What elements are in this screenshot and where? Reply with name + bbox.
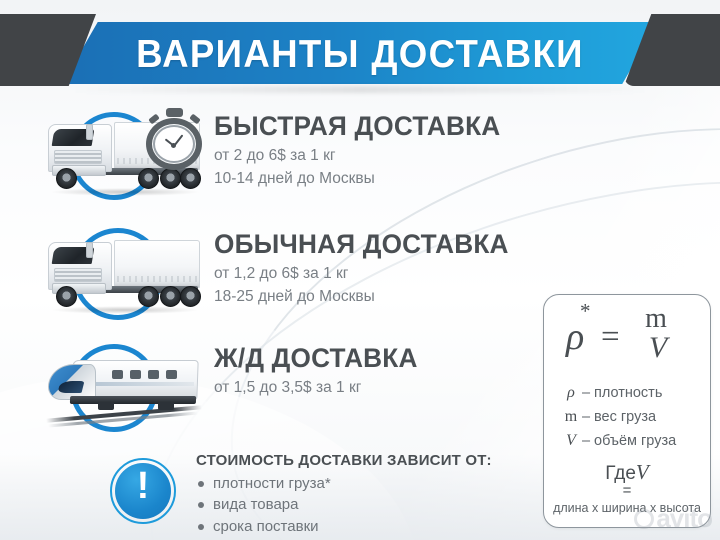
truck-wheel (180, 168, 201, 189)
truck-wheel (56, 168, 77, 189)
where-symbol: V (636, 460, 649, 484)
legend-row: m – вес груза (560, 405, 710, 429)
ground-shadow (50, 188, 200, 196)
option-title: Ж/Д ДОСТАВКА (214, 344, 550, 372)
truck-grille (54, 268, 102, 282)
option-title: ОБЫЧНАЯ ДОСТАВКА (214, 230, 550, 258)
stopwatch-crown (166, 108, 183, 117)
avito-watermark: avito (634, 503, 712, 534)
train-bogie (98, 402, 114, 410)
density-formula-card: * ρ = m V ρ – плотность m – вес груза V (543, 294, 711, 528)
delivery-option-text: ОБЫЧНАЯ ДОСТАВКА от 1,2 до 6$ за 1 кг 18… (214, 230, 560, 308)
truck-grille (54, 150, 102, 164)
train-window (130, 370, 141, 379)
delivery-option-rail: Ж/Д ДОСТАВКА от 1,5 до 3,5$ за 1 кг (0, 336, 560, 440)
option-price: от 1,2 до 6$ за 1 кг (214, 263, 560, 285)
list-item: срока поставки (196, 516, 556, 537)
truck-wheel (180, 286, 201, 307)
option-title: БЫСТРАЯ ДОСТАВКА (214, 112, 550, 140)
train-nose (48, 364, 96, 400)
truck-illustration (42, 236, 202, 310)
stopwatch-pin (171, 143, 176, 148)
legend-row: ρ – плотность (560, 381, 710, 405)
ground-shadow (50, 306, 200, 314)
option-term: 10-14 дней до Москвы (214, 168, 560, 190)
truck-mirror (86, 124, 93, 140)
legend-dash: – (582, 407, 594, 429)
truck-wheel (56, 286, 77, 307)
truck-wheel (138, 286, 159, 307)
watermark-text: avito (656, 503, 712, 534)
delivery-option-text: Ж/Д ДОСТАВКА от 1,5 до 3,5$ за 1 кг (214, 344, 560, 400)
delivery-option-text: БЫСТРАЯ ДОСТАВКА от 2 до 6$ за 1 кг 10-1… (214, 112, 560, 190)
cost-factor-list: плотности груза* вида товара срока поста… (196, 473, 556, 537)
list-item: плотности груза* (196, 473, 556, 494)
where-label: Где (605, 463, 636, 484)
legend-text: вес груза (594, 407, 656, 429)
legend-symbol: V (560, 429, 582, 453)
delivery-options-poster: ВАРИАНТЫ ДОСТАВКИ (0, 0, 720, 540)
train-windshield (58, 381, 85, 393)
legend-dash: – (582, 431, 594, 453)
truck-cab (48, 124, 112, 172)
legend-symbol: ρ (560, 381, 582, 405)
truck-wheel (138, 168, 159, 189)
truck-mirror (86, 242, 93, 258)
train-window (148, 370, 159, 379)
badge-exclamation-mark: ! (110, 467, 176, 505)
formula-denominator: V (649, 331, 667, 364)
formula-legend: ρ – плотность m – вес груза V – объём гр… (544, 381, 710, 453)
legend-row: V – объём груза (560, 429, 710, 453)
formula-numerator: m (645, 303, 667, 334)
train-illustration (46, 352, 202, 424)
list-item: вида товара (196, 494, 556, 515)
delivery-option-regular: ОБЫЧНАЯ ДОСТАВКА от 1,2 до 6$ за 1 кг 18… (0, 222, 560, 326)
cost-note-text: СТОИМОСТЬ ДОСТАВКИ ЗАВИСИТ ОТ: плотности… (196, 452, 556, 537)
stopwatch-icon (144, 108, 206, 170)
option-term: 18-25 дней до Москвы (214, 286, 560, 308)
density-formula: * ρ = m V (544, 295, 710, 379)
page-title: ВАРИАНТЫ ДОСТАВКИ (22, 33, 699, 77)
train-window (112, 370, 123, 379)
truck-wheel (160, 286, 181, 307)
truck-icon (36, 222, 208, 326)
where-equals: = (544, 486, 710, 497)
train-icon (36, 336, 208, 440)
legend-text: плотность (594, 383, 662, 405)
truck-trailer (114, 240, 200, 288)
truck-wheel (160, 168, 181, 189)
train-skirt (70, 396, 196, 404)
option-price: от 1,5 до 3,5$ за 1 кг (214, 377, 560, 399)
formula-equals: = (601, 319, 620, 356)
option-price: от 2 до 6$ за 1 кг (214, 145, 560, 167)
formula-rho: ρ (566, 315, 584, 359)
train-window (166, 370, 177, 379)
formula-fraction: m V (636, 305, 680, 363)
legend-text: объём груза (594, 431, 676, 453)
cost-note: ! СТОИМОСТЬ ДОСТАВКИ ЗАВИСИТ ОТ: плотнос… (0, 452, 560, 536)
legend-symbol: m (560, 405, 582, 429)
header-banner: ВАРИАНТЫ ДОСТАВКИ (0, 14, 720, 90)
banner-shadow (70, 86, 650, 93)
exclamation-badge-icon: ! (110, 458, 176, 524)
cost-note-title: СТОИМОСТЬ ДОСТАВКИ ЗАВИСИТ ОТ: (196, 452, 556, 469)
watermark-circle-icon (634, 509, 654, 529)
truck-cab (48, 242, 112, 290)
legend-dash: – (582, 383, 594, 405)
truck-with-stopwatch-icon (36, 104, 208, 208)
delivery-option-fast: БЫСТРАЯ ДОСТАВКА от 2 до 6$ за 1 кг 10-1… (0, 104, 560, 208)
train-bogie (158, 402, 174, 410)
